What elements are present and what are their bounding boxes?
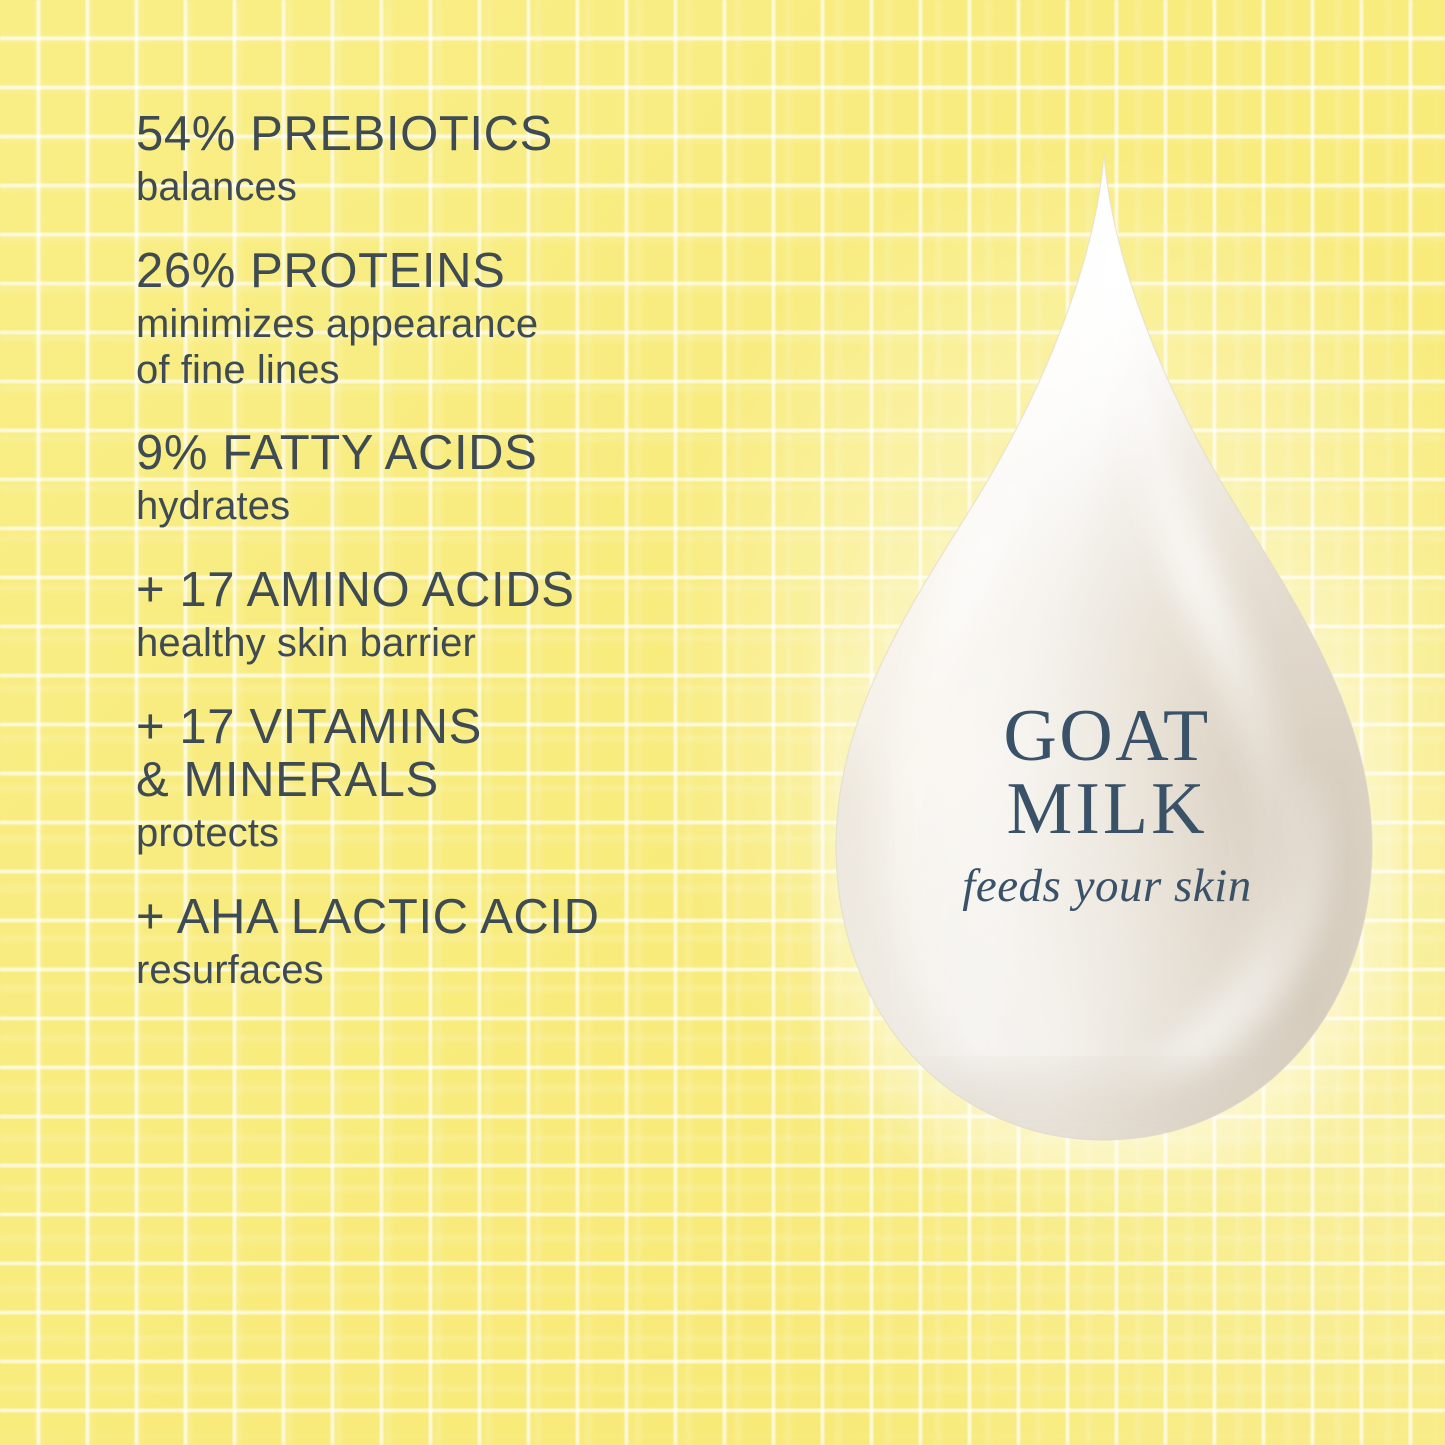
benefit-item-amino-acids: + 17 AMINO ACIDS healthy skin barrier [136, 564, 816, 667]
benefits-list: 54% PREBIOTICS balances 26% PROTEINS min… [136, 108, 816, 993]
benefit-description: protects [136, 811, 816, 857]
benefit-item-prebiotics: 54% PREBIOTICS balances [136, 108, 816, 211]
benefit-description: balances [136, 165, 816, 211]
benefit-item-vitamins-minerals: + 17 VITAMINS & MINERALS protects [136, 701, 816, 857]
milk-droplet-icon [812, 140, 1402, 1170]
benefit-item-fatty-acids: 9% FATTY ACIDS hydrates [136, 427, 816, 530]
benefit-item-proteins: 26% PROTEINS minimizes appearance of fin… [136, 245, 816, 393]
milk-droplet-graphic: GOAT MILK feeds your skin [812, 140, 1402, 1170]
benefit-heading: + AHA LACTIC ACID [136, 891, 816, 944]
benefit-heading: + 17 VITAMINS & MINERALS [136, 701, 816, 807]
benefit-heading: 26% PROTEINS [136, 245, 816, 298]
benefit-item-aha-lactic-acid: + AHA LACTIC ACID resurfaces [136, 891, 816, 994]
infographic-canvas: 54% PREBIOTICS balances 26% PROTEINS min… [0, 0, 1445, 1445]
benefit-heading: 9% FATTY ACIDS [136, 427, 816, 480]
benefit-heading: + 17 AMINO ACIDS [136, 564, 816, 617]
benefit-description: hydrates [136, 484, 816, 530]
benefit-description: minimizes appearance of fine lines [136, 302, 816, 393]
benefit-description: healthy skin barrier [136, 621, 816, 667]
benefit-heading: 54% PREBIOTICS [136, 108, 816, 161]
benefit-description: resurfaces [136, 948, 816, 994]
